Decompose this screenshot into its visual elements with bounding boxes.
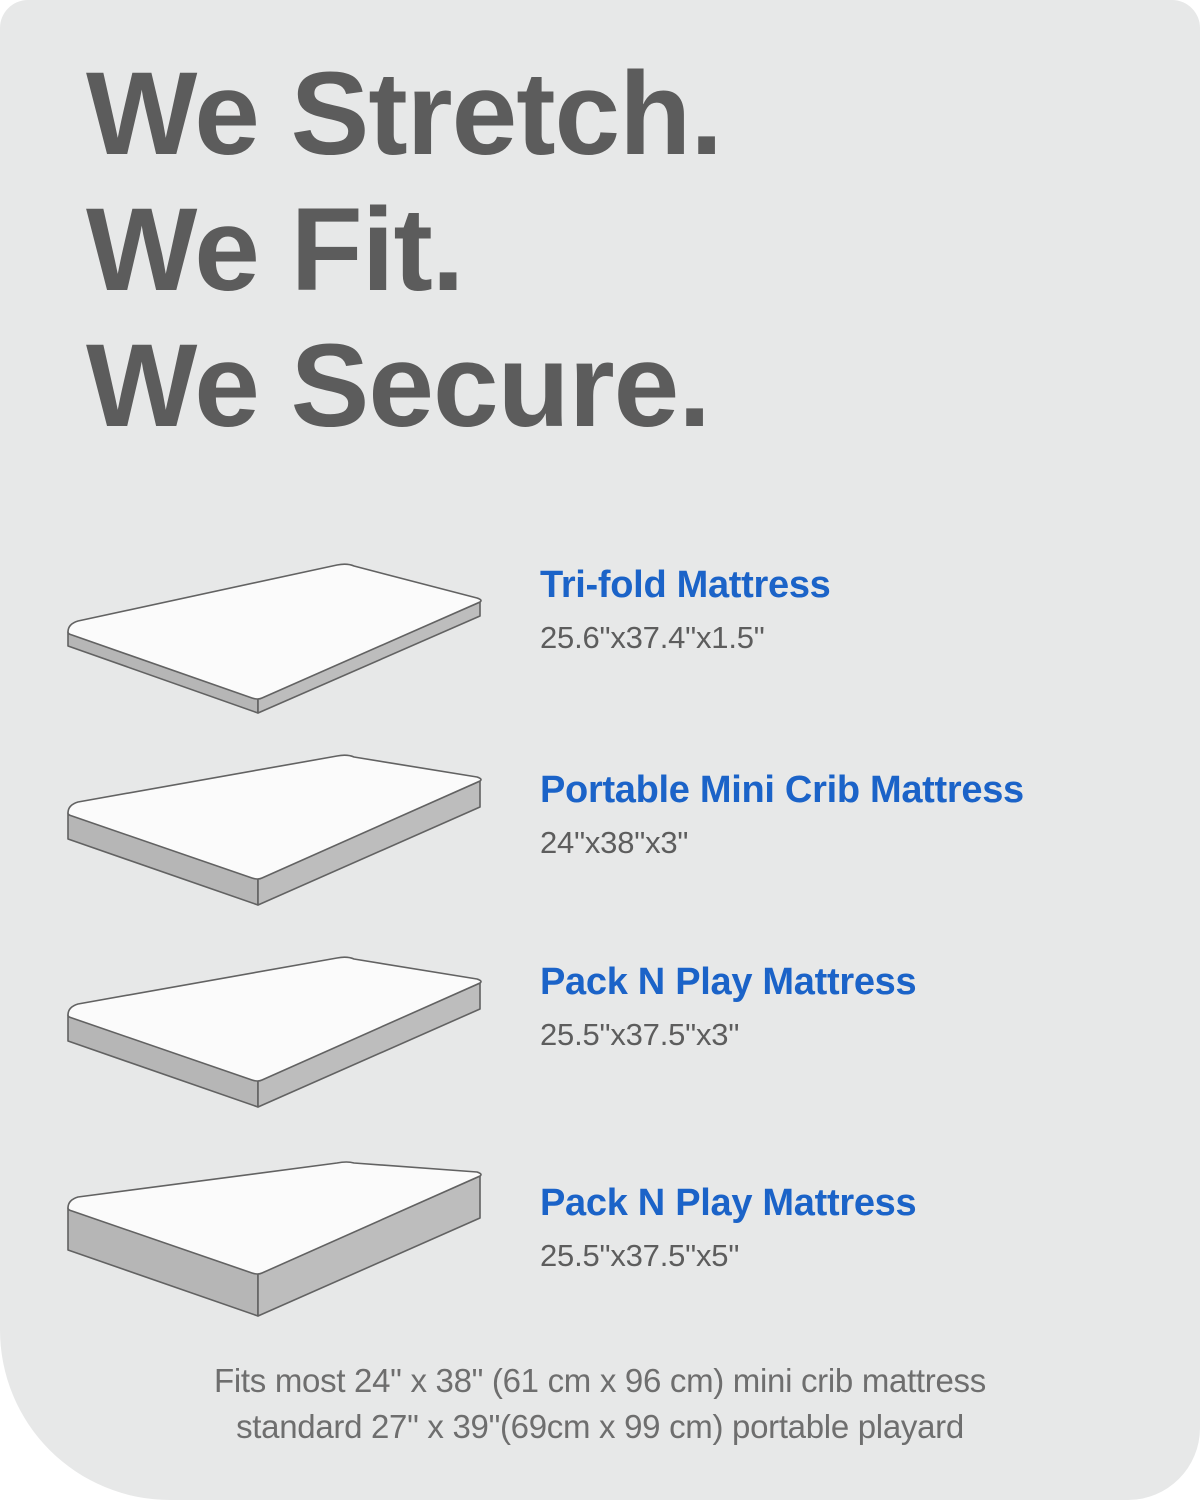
product-title: Portable Mini Crib Mattress xyxy=(540,767,1180,813)
product-text-2: Portable Mini Crib Mattress 24"x38"x3" xyxy=(540,767,1180,863)
product-dimensions: 25.5"x37.5"x5" xyxy=(540,1236,1180,1276)
footer-line-2: standard 27" x 39"(69cm x 99 cm) portabl… xyxy=(0,1404,1200,1450)
mattress-slab-icon xyxy=(62,1160,522,1360)
product-dimensions: 25.5"x37.5"x3" xyxy=(540,1015,1180,1055)
headline-line-1: We Stretch. xyxy=(86,46,1086,182)
product-text-1: Tri-fold Mattress 25.6"x37.4"x1.5" xyxy=(540,562,1180,658)
mattress-illustration-1 xyxy=(62,562,522,737)
product-dimensions: 24"x38"x3" xyxy=(540,823,1180,863)
mattress-slab-icon xyxy=(62,753,522,938)
mattress-illustration-3 xyxy=(62,955,522,1140)
product-title: Pack N Play Mattress xyxy=(540,959,1180,1005)
footer-line-1: Fits most 24" x 38" (61 cm x 96 cm) mini… xyxy=(0,1358,1200,1404)
headline-line-3: We Secure. xyxy=(86,318,1086,454)
footer-note: Fits most 24" x 38" (61 cm x 96 cm) mini… xyxy=(0,1358,1200,1450)
product-dimensions: 25.6"x37.4"x1.5" xyxy=(540,618,1180,658)
promo-panel: We Stretch. We Fit. We Secure. Tri-fold … xyxy=(0,0,1200,1500)
product-text-4: Pack N Play Mattress 25.5"x37.5"x5" xyxy=(540,1180,1180,1276)
mattress-slab-icon xyxy=(62,955,522,1140)
product-title: Pack N Play Mattress xyxy=(540,1180,1180,1226)
product-title: Tri-fold Mattress xyxy=(540,562,1180,608)
mattress-illustration-4 xyxy=(62,1160,522,1360)
mattress-illustration-2 xyxy=(62,753,522,938)
mattress-slab-icon xyxy=(62,562,522,737)
page-title: We Stretch. We Fit. We Secure. xyxy=(86,46,1086,454)
product-text-3: Pack N Play Mattress 25.5"x37.5"x3" xyxy=(540,959,1180,1055)
headline-line-2: We Fit. xyxy=(86,182,1086,318)
